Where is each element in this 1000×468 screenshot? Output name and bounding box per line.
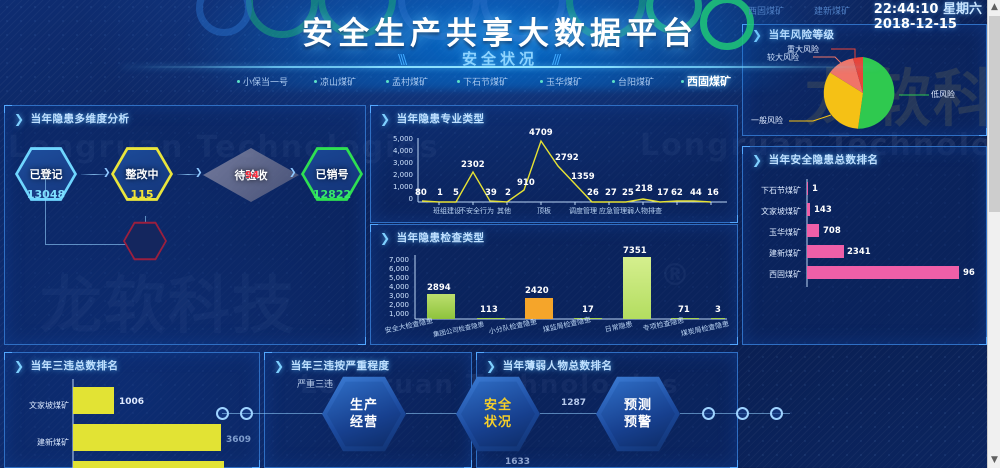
bar-value-5: 71 xyxy=(678,305,690,315)
tab-mine-0[interactable]: 小保当一号 xyxy=(237,75,288,88)
flow-node-circle-4[interactable] xyxy=(770,407,783,420)
header-mine-labels: 西固煤矿 建新煤矿 xyxy=(748,4,850,17)
panel-title-text: 当年安全隐患总数排名 xyxy=(769,152,879,167)
flow-node-value: 12822 xyxy=(301,188,363,204)
hazard-rank-panel-title: ❯ 当年安全隐患总数排名 xyxy=(743,147,986,167)
bullet-icon xyxy=(457,80,460,83)
violation-bar-2[interactable] xyxy=(73,461,224,468)
flow-node-circle-3[interactable] xyxy=(736,407,749,420)
hbar-value-3: 2341 xyxy=(847,247,871,257)
hbar-cat-4: 西固煤矿 xyxy=(743,269,801,280)
point-label-12: 25 xyxy=(622,188,634,198)
flow-hex-label-line2: 预警 xyxy=(624,414,652,431)
flow-node-label: 已销号 xyxy=(316,166,349,182)
point-label-8: 2792 xyxy=(555,153,579,163)
vertical-bar-chart: 7,000 6,000 5,000 4,000 3,000 2,000 1,00… xyxy=(371,243,739,346)
violation-cat-1: 建新煤矿 xyxy=(13,437,69,448)
x-label-0: 班组建设 xyxy=(433,206,461,216)
page-scrollbar[interactable]: ▲ ▼ xyxy=(987,0,1000,468)
flow-node-circle-0[interactable] xyxy=(216,407,229,420)
clock-date: 2018-12-15 xyxy=(874,17,982,32)
hbar-value-4: 96 xyxy=(963,268,975,278)
chevron-right-icon: ❯ xyxy=(486,359,497,373)
flow-node-registered[interactable]: 已登记 13048 xyxy=(15,146,77,202)
header-mine-1: 西固煤矿 xyxy=(748,4,784,17)
tab-mine-2[interactable]: 孟村煤矿 xyxy=(386,75,428,88)
point-label-7: 4709 xyxy=(529,128,553,138)
flow-hex-label-line2: 状况 xyxy=(484,414,512,431)
hazard-rank-panel: ❯ 当年安全隐患总数排名 下石节煤矿 1 文家坡煤矿 143 玉华煤矿 708 … xyxy=(742,146,987,345)
bullet-icon xyxy=(314,80,317,83)
tab-mine-1[interactable]: 凉山煤矿 xyxy=(314,75,356,88)
hbar-4[interactable] xyxy=(807,266,959,279)
dashboard-root: 龙软科技 Longruan Technologies Longruan Tech… xyxy=(0,0,1000,468)
mine-tab-bar[interactable]: 小保当一号 凉山煤矿 孟村煤矿 下石节煤矿 玉华煤矿 台阳煤矿 西固煤矿 xyxy=(0,70,1000,92)
flow-hex-label-line1: 生产 xyxy=(350,397,378,414)
severity-panel-title: ❯ 当年三违按严重程度 xyxy=(265,353,471,373)
hbar-cat-0: 下石节煤矿 xyxy=(743,185,801,196)
point-label-2: 5 xyxy=(453,188,459,198)
header-mine-2: 建新煤矿 xyxy=(814,4,850,17)
x-label-6: 弱人物排查 xyxy=(627,206,662,216)
point-label-13: 218 xyxy=(635,184,653,194)
hbar-cat-1: 文家坡煤矿 xyxy=(743,206,801,217)
hbar-0[interactable] xyxy=(807,182,808,195)
hbar-value-0: 1 xyxy=(812,184,818,194)
bullet-icon xyxy=(237,80,240,83)
tab-label: 凉山煤矿 xyxy=(320,75,356,88)
weak-person-value-1: 1633 xyxy=(505,457,530,467)
bar-value-6: 3 xyxy=(715,305,721,315)
tab-mine-5[interactable]: 台阳煤矿 xyxy=(612,75,654,88)
point-label-14: 17 xyxy=(657,188,669,198)
flow-arrow-1: ❯ xyxy=(103,168,111,178)
bar-value-2: 2420 xyxy=(525,286,549,296)
hbar-2[interactable] xyxy=(807,224,819,237)
bar-value-0: 2894 xyxy=(427,283,451,293)
pie-label-general-risk: 一般风险 xyxy=(751,115,783,126)
bullet-icon xyxy=(681,80,684,83)
weak-person-rank-panel-title: ❯ 当年薄弱人物总数排名 xyxy=(477,353,737,373)
violation-axis-svg xyxy=(5,375,261,468)
chevron-right-icon: ❯ xyxy=(14,112,25,126)
panel-title-text: 当年薄弱人物总数排名 xyxy=(503,358,613,373)
flow-hex-label-line1: 安全 xyxy=(484,397,512,414)
flow-hex-label-line1: 预测 xyxy=(624,397,652,414)
point-label-9: 1359 xyxy=(571,172,595,182)
tab-mine-6[interactable]: 西固煤矿 xyxy=(681,73,731,89)
app-header: 安全生产共享大数据平台 \\\ 安全状况 /// 西固煤矿 建新煤矿 22:44… xyxy=(0,0,1000,96)
point-label-17: 16 xyxy=(707,188,719,198)
chevron-right-icon: ❯ xyxy=(274,359,285,373)
clock-weekday: 星期六 xyxy=(943,2,982,17)
flow-hex-label-line2: 经营 xyxy=(350,414,378,431)
flow-node-value: 13048 xyxy=(15,188,77,204)
scroll-down-arrow-icon[interactable]: ▼ xyxy=(988,453,1000,468)
clock-time: 22:44:10 xyxy=(874,2,939,17)
flow-arrow-3: ❯ xyxy=(289,168,297,178)
flow-node-rectifying[interactable]: 整改中 115 xyxy=(111,146,173,202)
point-label-0: 80 xyxy=(415,188,427,198)
chevron-right-icon: ❯ xyxy=(14,359,25,373)
x-label-2: 其他 xyxy=(497,206,511,216)
bar-value-3: 17 xyxy=(582,305,594,315)
flow-node-value: 94 xyxy=(245,170,259,204)
violation-hbar-chart: 文家坡煤矿 1006 建新煤矿 3609 西固煤矿 3686 xyxy=(5,375,261,468)
flow-node-value: 115 xyxy=(111,188,173,204)
check-type-panel-title: ❯ 当年隐患检查类型 xyxy=(371,225,737,245)
weak-person-value-0: 1287 xyxy=(561,398,586,408)
point-label-3: 2302 xyxy=(461,160,485,170)
bullet-icon xyxy=(612,80,615,83)
tab-label: 下石节煤矿 xyxy=(463,75,508,88)
check-type-panel: ❯ 当年隐患检查类型 7,000 6,000 5,000 4,000 3,000… xyxy=(370,224,738,345)
x-label-4: 调度管理 xyxy=(569,206,597,216)
hazard-flow-panel: ❯ 当年隐患多维度分析 已登记 13048 ❯ 整改中 115 ❯ 待验收 xyxy=(4,105,366,345)
point-label-16: 44 xyxy=(690,188,702,198)
violation-value-0: 1006 xyxy=(119,397,144,407)
hazard-type-panel: ❯ 当年隐患专业类型 5,000 4,000 3,000 2,000 1,000… xyxy=(370,105,738,223)
point-label-1: 1 xyxy=(437,188,443,198)
scroll-up-arrow-icon[interactable]: ▲ xyxy=(988,0,1000,15)
hbar-3[interactable] xyxy=(807,245,844,258)
hbar-value-1: 143 xyxy=(814,205,832,215)
point-label-4: 39 xyxy=(485,188,497,198)
tab-label: 玉华煤矿 xyxy=(546,75,582,88)
x-label-1: 不安全行为 xyxy=(459,206,494,216)
bullet-icon xyxy=(540,80,543,83)
panel-title-text: 当年三违按严重程度 xyxy=(291,358,390,373)
hbar-1[interactable] xyxy=(807,203,810,216)
point-label-6: 910 xyxy=(517,178,535,188)
point-label-11: 27 xyxy=(605,188,617,198)
hazard-flow-panel-title: ❯ 当年隐患多维度分析 xyxy=(5,106,365,126)
header-divider xyxy=(120,66,880,68)
hbar-cat-2: 玉华煤矿 xyxy=(743,227,801,238)
point-label-10: 26 xyxy=(587,188,599,198)
bar-value-1: 113 xyxy=(480,305,498,315)
flow-node-circle-1[interactable] xyxy=(240,407,253,420)
tab-mine-4[interactable]: 玉华煤矿 xyxy=(540,75,582,88)
chevron-right-icon: ❯ xyxy=(752,153,763,167)
flow-node-closed[interactable]: 已销号 12822 xyxy=(301,146,363,202)
tab-label: 小保当一号 xyxy=(243,75,288,88)
flow-node-pending-acceptance[interactable]: 待验收 94 xyxy=(203,148,299,202)
bar-4[interactable] xyxy=(623,257,651,319)
flow-node-circle-2[interactable] xyxy=(702,407,715,420)
violation-bar-0[interactable] xyxy=(73,387,114,414)
hbar-value-2: 708 xyxy=(823,226,841,236)
clock: 22:44:10 星期六 2018-12-15 xyxy=(874,2,982,32)
line-chart: 5,000 4,000 3,000 2,000 1,000 0 80 xyxy=(371,124,739,224)
violation-cat-0: 文家坡煤矿 xyxy=(13,400,69,411)
horizontal-bar-chart: 下石节煤矿 1 文家坡煤矿 143 玉华煤矿 708 建新煤矿 2341 西固煤… xyxy=(743,171,988,346)
panel-title-text: 当年三违总数排名 xyxy=(31,358,119,373)
bar-value-4: 7351 xyxy=(623,246,647,256)
violation-bar-1[interactable] xyxy=(73,424,221,451)
hbar-cat-3: 建新煤矿 xyxy=(743,248,801,259)
bar-2[interactable] xyxy=(525,298,553,319)
line-chart-svg xyxy=(371,124,739,224)
severity-legend-label: 严重三违 xyxy=(297,377,333,390)
hazard-type-panel-title: ❯ 当年隐患专业类型 xyxy=(371,106,737,126)
flow-node-small-highlight[interactable] xyxy=(123,221,167,261)
point-label-5: 2 xyxy=(505,188,511,198)
x-label-5: 应急管理 xyxy=(599,206,627,216)
violation-rank-panel-title: ❯ 当年三违总数排名 xyxy=(5,353,259,373)
page-title: 安全生产共享大数据平台 xyxy=(0,8,1000,53)
scrollbar-thumb[interactable] xyxy=(989,16,1000,212)
tab-label: 孟村煤矿 xyxy=(392,75,428,88)
violation-value-1: 3609 xyxy=(226,435,251,445)
tab-label: 西固煤矿 xyxy=(687,73,731,89)
tab-mine-3[interactable]: 下石节煤矿 xyxy=(457,75,508,88)
flow-branch-vertical-left xyxy=(45,176,46,244)
flow-arrow-2: ❯ xyxy=(195,168,203,178)
bullet-icon xyxy=(386,80,389,83)
flow-node-label: 已登记 xyxy=(30,166,63,182)
point-label-15: 62 xyxy=(671,188,683,198)
tab-label: 台阳煤矿 xyxy=(618,75,654,88)
hex-inner xyxy=(125,223,165,259)
x-label-3: 顶板 xyxy=(537,206,551,216)
flow-node-label: 整改中 xyxy=(126,166,159,182)
panel-title-text: 当年隐患多维度分析 xyxy=(31,111,130,126)
